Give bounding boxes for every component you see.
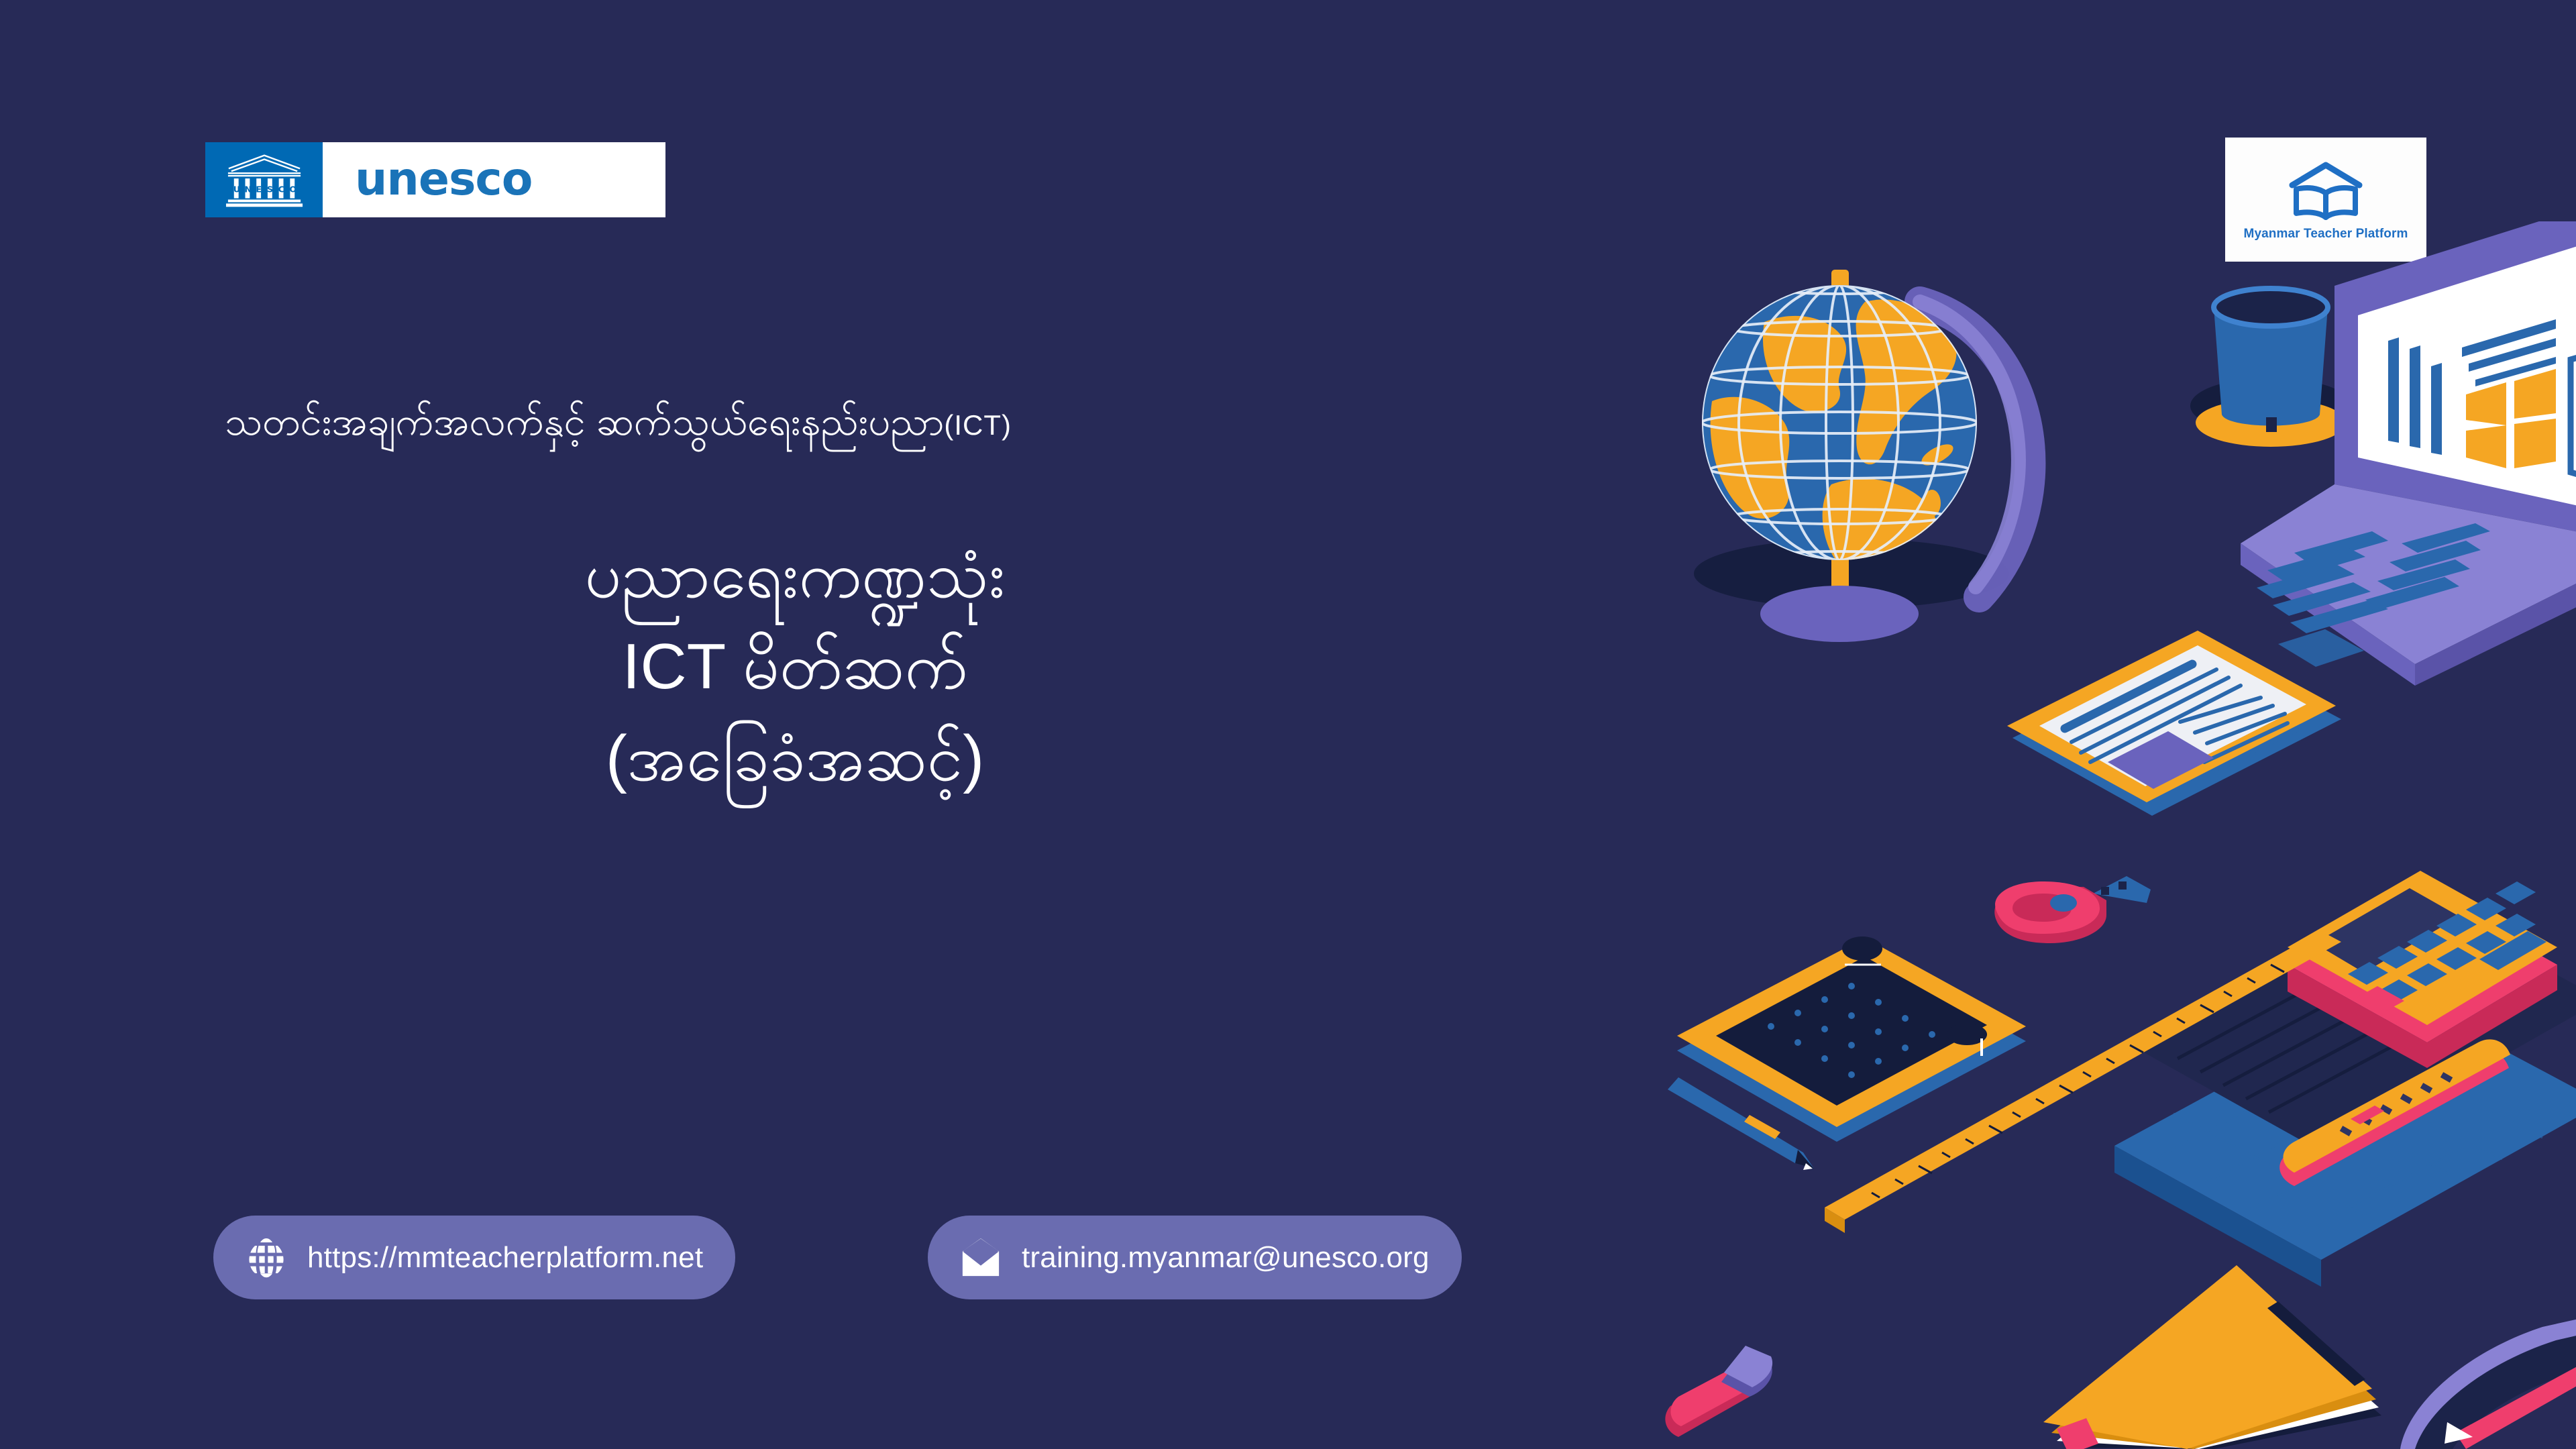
coffee-cup-illustration <box>2196 288 2346 447</box>
email-label: training.myanmar@unesco.org <box>1022 1241 1430 1275</box>
website-label: https://mmteacherplatform.net <box>307 1241 703 1275</box>
svg-text:E: E <box>256 185 262 195</box>
globe-base <box>1760 586 1919 642</box>
ict-education-illustration <box>1664 221 2576 1449</box>
envelope-icon <box>960 1237 1002 1279</box>
unesco-logo: UNE SCO unesco <box>205 142 665 217</box>
usb-drive-illustration <box>1994 876 2151 943</box>
svg-text:C: C <box>278 185 284 195</box>
slide-root: UNE SCO unesco Myanmar Teacher Platform … <box>0 0 2576 1449</box>
subtitle-abbr: (ICT) <box>944 409 1012 441</box>
svg-text:N: N <box>244 185 252 195</box>
title-line-1: ပညာရေးကဏ္ဍသုံး <box>225 530 1365 621</box>
unesco-temple-icon: UNE SCO <box>205 142 323 217</box>
title-line-2: ICT မိတ်ဆက် <box>225 621 1365 712</box>
unesco-wordmark-text: unesco <box>355 157 532 203</box>
stapler-illustration <box>2400 1313 2576 1449</box>
page-title: ပညာရေးကဏ္ဍသုံး ICT မိတ်ဆက် (အခြေခံအဆင့်) <box>225 530 1365 804</box>
svg-text:S: S <box>266 185 272 195</box>
globe-icon <box>246 1237 287 1279</box>
svg-text:U: U <box>233 185 239 195</box>
title-line-3: (အခြေခံအဆင့်) <box>225 713 1365 804</box>
website-pill[interactable]: https://mmteacherplatform.net <box>213 1216 735 1299</box>
clipboard-document-illustration <box>2007 631 2341 816</box>
eraser-illustration <box>1665 1346 1772 1437</box>
page-subtitle: သတင်းအချက်အလက်နှင့် ဆက်သွယ်ရေးနည်းပညာ(IC… <box>225 396 1012 448</box>
open-book-roof-icon <box>2283 158 2369 223</box>
subtitle-text: သတင်းအချက်အလက်နှင့် ဆက်သွယ်ရေးနည်းပညာ <box>225 400 944 443</box>
unesco-wordmark: unesco <box>323 142 665 217</box>
notebook-orange-illustration <box>2043 1265 2381 1449</box>
svg-text:O: O <box>289 185 297 195</box>
email-pill[interactable]: training.myanmar@unesco.org <box>928 1216 1462 1299</box>
